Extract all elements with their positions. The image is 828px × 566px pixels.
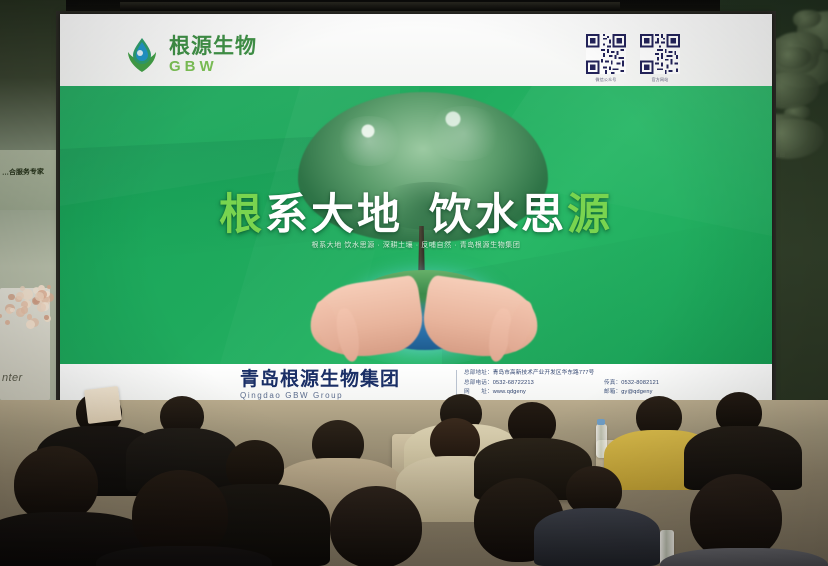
torso xyxy=(96,546,272,566)
logo-company-en: GBW xyxy=(169,59,257,74)
contact-row-address: 总部地址：青岛市高新技术产业开发区华东路777号 xyxy=(464,369,659,379)
footer-company-en: Qingdao GBW Group xyxy=(240,392,400,400)
website-value: www.qdgeny xyxy=(493,389,526,395)
phone-value: 0532-68722213 xyxy=(493,380,534,386)
torso xyxy=(534,508,660,566)
flower xyxy=(47,285,51,289)
address-label: 总部地址： xyxy=(464,370,493,376)
email-label: 邮箱： xyxy=(604,389,621,395)
qr-code-wechat xyxy=(586,34,626,74)
qr-caption-1: 微信公众号 xyxy=(596,77,617,83)
flower xyxy=(44,315,49,320)
leaf-droplet-logo-icon xyxy=(122,34,162,76)
qr-code-group: 微信公众号 xyxy=(586,34,680,83)
flower xyxy=(8,294,14,300)
footer-contact: 总部地址：青岛市高新技术产业开发区华东路777号 总部电话：0532-68722… xyxy=(464,369,659,398)
slide-slogan: 根系大地饮水思源 xyxy=(60,194,772,237)
contact-row-phone: 总部电话：0532-68722213 传真：0532-8082121 xyxy=(464,379,659,389)
phone-label: 总部电话： xyxy=(464,380,493,386)
flower xyxy=(0,314,2,318)
flower xyxy=(10,308,14,312)
left-banner-text: …合服务专家 xyxy=(2,167,58,177)
flower-arrangement xyxy=(0,282,58,328)
slide-body: 根系大地饮水思源 根系大地 饮水思源 · 深耕土壤 · 反哺自然 · 青岛根源生… xyxy=(60,86,772,364)
slide-sub-slogan: 根系大地 饮水思源 · 深耕土壤 · 反哺自然 · 青岛根源生物集团 xyxy=(60,240,772,250)
slide-header: 根源生物 GBW xyxy=(60,14,772,86)
head xyxy=(14,446,98,522)
qr-code-website xyxy=(640,34,680,74)
address-value: 青岛市高新技术产业开发区华东路777号 xyxy=(493,370,595,376)
flower xyxy=(5,320,10,325)
footer-company-cn: 青岛根源生物集团 xyxy=(240,370,400,389)
flower xyxy=(37,303,46,312)
qr-block-1: 微信公众号 xyxy=(586,34,626,83)
head xyxy=(330,486,422,566)
flower xyxy=(35,292,44,301)
conference-photo: ▤▤▤▤▤ ▤▤▤▤▤▤▤▤▤▤▤ ▤▤▤▤▤▤▤▤▤▤▤▤▤ ▤▤ …合服务专… xyxy=(0,0,828,566)
left-banner xyxy=(0,150,58,210)
slogan-plain-1: 系大地 xyxy=(265,190,403,240)
contact-row-web: 网 址：www.qdgeny 邮箱：gy@qdgeny xyxy=(464,388,659,398)
fax-value: 0532-8082121 xyxy=(621,380,659,386)
qr-caption-2: 官方网站 xyxy=(652,77,669,83)
logo-company-cn: 根源生物 xyxy=(169,36,257,57)
canopy-highlight xyxy=(334,116,404,166)
projection-screen: 根源生物 GBW xyxy=(60,14,772,406)
brand-logo: 根源生物 GBW xyxy=(122,34,257,76)
paper-sheet xyxy=(84,386,122,424)
flower xyxy=(21,306,29,314)
left-sign-text: nter xyxy=(2,372,54,384)
fax-label: 传真： xyxy=(604,380,621,386)
slogan-accent-2: 源 xyxy=(567,190,613,240)
slogan-accent-1: 根 xyxy=(219,190,265,240)
footer-company: 青岛根源生物集团 Qingdao GBW Group xyxy=(240,370,400,400)
qr-block-2: 官方网站 xyxy=(640,34,680,83)
flower xyxy=(26,320,35,329)
bottle-cap xyxy=(597,419,605,425)
email-value: gy@qdgeny xyxy=(621,389,652,395)
slogan-plain-2: 饮水思 xyxy=(429,190,567,240)
flower xyxy=(16,292,24,300)
canopy-highlight-2 xyxy=(424,106,504,161)
foliage-leaf xyxy=(775,47,811,69)
